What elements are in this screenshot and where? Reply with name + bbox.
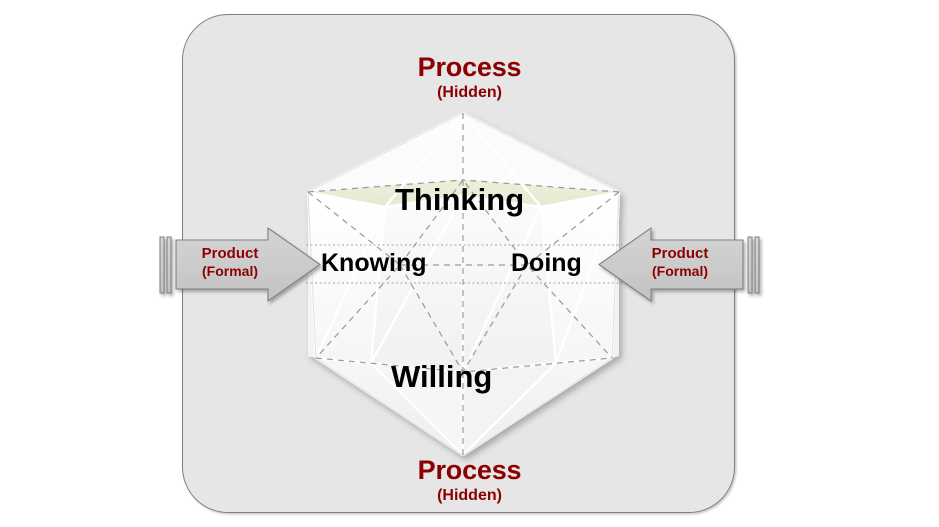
face-label-willing: Willing <box>391 359 492 395</box>
diagram-artwork <box>0 0 939 527</box>
arrow-left-main: Product <box>185 245 275 262</box>
process-label-bottom: Process (Hidden) <box>0 455 939 505</box>
arrow-left-sub: (Formal) <box>185 263 275 279</box>
diagram-canvas: Process (Hidden) <box>0 0 939 527</box>
arrow-right-sub: (Formal) <box>635 263 725 279</box>
icosahedron-solid <box>308 113 619 455</box>
face-label-knowing: Knowing <box>321 249 427 278</box>
arrow-label-left: Product (Formal) <box>185 245 275 279</box>
arrow-label-right: Product (Formal) <box>635 245 725 279</box>
process-bottom-main: Process <box>0 455 939 485</box>
arrow-right-main: Product <box>635 245 725 262</box>
face-label-doing: Doing <box>511 249 582 278</box>
process-bottom-sub: (Hidden) <box>0 487 939 505</box>
face-label-thinking: Thinking <box>395 182 524 218</box>
